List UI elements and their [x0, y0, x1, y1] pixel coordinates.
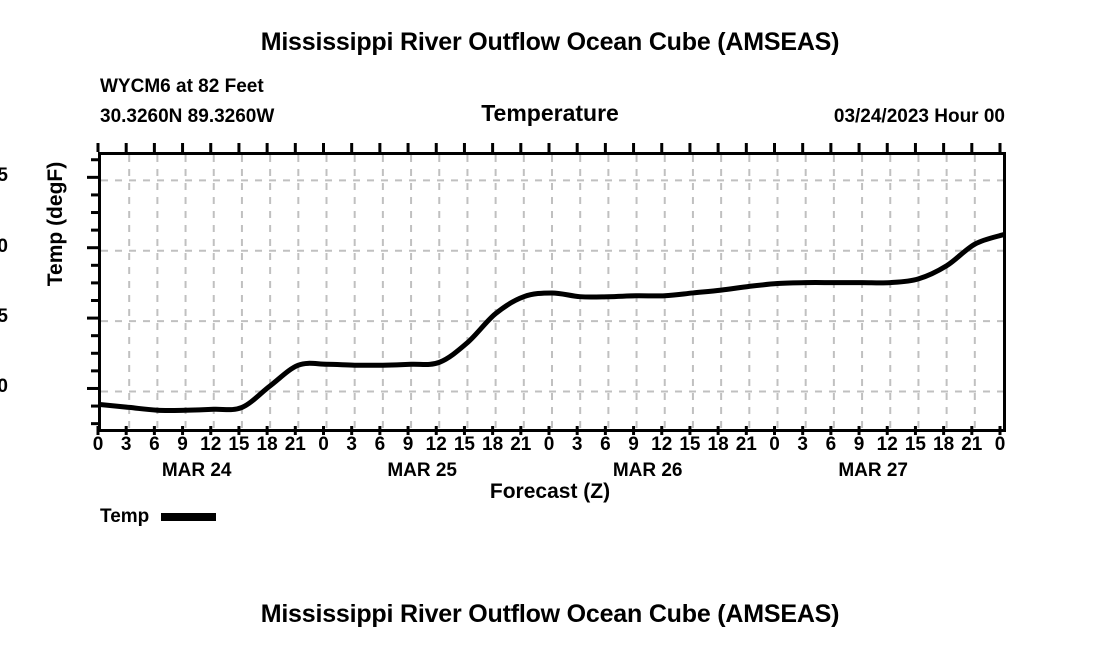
legend-label-temp: Temp: [100, 506, 149, 528]
x-tick-label: 0: [980, 434, 1020, 456]
legend-swatch-temp: [161, 513, 216, 521]
plot-inner: [101, 155, 1003, 429]
y-tick-label: 66.00: [0, 236, 8, 258]
day-label: MAR 26: [568, 460, 728, 482]
x-axis-label: Forecast (Z): [0, 480, 1100, 504]
page-title-bottom: Mississippi River Outflow Ocean Cube (AM…: [0, 600, 1100, 629]
legend: Temp: [100, 506, 216, 528]
station-label: WYCM6 at 82 Feet: [100, 76, 264, 98]
chart-page: Mississippi River Outflow Ocean Cube (AM…: [0, 0, 1100, 650]
temperature-line-chart: [101, 155, 1003, 429]
y-tick-label: 64.50: [0, 376, 8, 398]
page-title-top: Mississippi River Outflow Ocean Cube (AM…: [0, 28, 1100, 57]
plot-area: [98, 152, 1006, 432]
day-label: MAR 27: [793, 460, 953, 482]
model-run-timestamp: 03/24/2023 Hour 00: [834, 106, 1005, 128]
y-tick-label: 65.25: [0, 306, 8, 328]
y-tick-label: 66.75: [0, 165, 8, 187]
day-label: MAR 24: [117, 460, 277, 482]
day-label: MAR 25: [342, 460, 502, 482]
y-axis-label: Temp (degF): [44, 124, 68, 324]
